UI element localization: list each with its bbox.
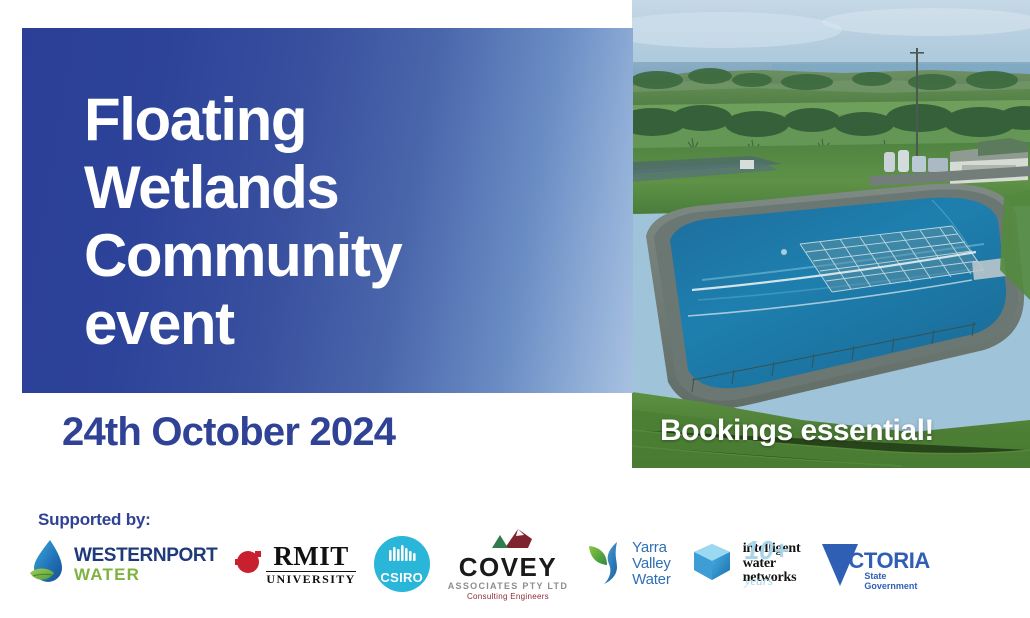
bookings-essential-caption: Bookings essential! [660,416,934,446]
yvw-line-1: Yarra [632,540,671,556]
logo-yarra-valley-water[interactable]: Yarra Valley Water [586,537,671,592]
iwn-wordmark: intelligent water networks [743,542,801,586]
lagoon-photo-illustration [632,0,1030,468]
hexagon-cube-icon [689,540,735,589]
victoria-subtitle-line-2: Government [864,581,917,591]
event-promo-banner: Bookings essential! Floating Wetlands Co… [0,0,1030,618]
victoria-subtitle: State Government [864,571,917,592]
lagoon-aerial-photo [632,0,1030,468]
covey-subtitle: ASSOCIATES PTY LTD [448,582,568,591]
page-title: Floating Wetlands Community event [84,86,624,358]
rmit-subtitle: UNIVERSITY [266,571,355,585]
westernport-subtitle: WATER [74,566,217,583]
westernport-name: WESTERNPORT [74,546,217,565]
logo-westernport-water[interactable]: WESTERNPORT WATER [28,537,217,592]
yarra-valley-water-wordmark: Yarra Valley Water [632,540,671,588]
title-line-4: event [84,290,624,358]
yvw-line-3: Water [632,572,671,588]
logo-covey-associates[interactable]: COVEY ASSOCIATES PTY LTD Consulting Engi… [448,527,568,601]
victoria-name: VICTORIA [828,550,930,572]
covey-name: COVEY [459,554,558,580]
iwn-line-3: networks [743,571,801,586]
title-line-3: Community [84,222,624,290]
yvw-line-2: Valley [632,556,671,572]
covey-tagline: Consulting Engineers [467,593,549,601]
logo-victoria-state-government[interactable]: VICTORIA State Government [818,536,918,592]
supported-by-label: Supported by: [38,511,151,528]
iwn-line-1: intelligent [743,542,801,557]
logo-intelligent-water-networks[interactable]: intelligent water networks 10+ years [689,540,801,589]
water-drop-leaf-icon [28,537,68,592]
rmit-red-circle-icon [235,548,261,581]
csiro-name: CSIRO [380,571,423,584]
logo-rmit-university[interactable]: RMIT UNIVERSITY [235,543,355,585]
csiro-southern-cross-icon [387,544,417,569]
rmit-name: RMIT [266,543,355,570]
title-line-1: Floating [84,86,624,154]
westernport-wordmark: WESTERNPORT WATER [74,546,217,583]
csiro-badge: CSIRO [374,536,430,592]
leaf-stream-icon [586,537,626,592]
rmit-wordmark: RMIT UNIVERSITY [266,543,355,585]
covey-mountain-icon [472,527,544,553]
victoria-subtitle-line-1: State [864,571,917,581]
logo-csiro[interactable]: CSIRO [374,536,430,592]
iwn-line-2: water [743,557,801,572]
hero-gradient-panel: Floating Wetlands Community event [22,28,633,393]
supporter-logo-row: WESTERNPORT WATER RMIT UNIVERSITY [28,533,1013,595]
title-line-2: Wetlands [84,154,624,222]
event-date: 24th October 2024 [62,412,395,452]
